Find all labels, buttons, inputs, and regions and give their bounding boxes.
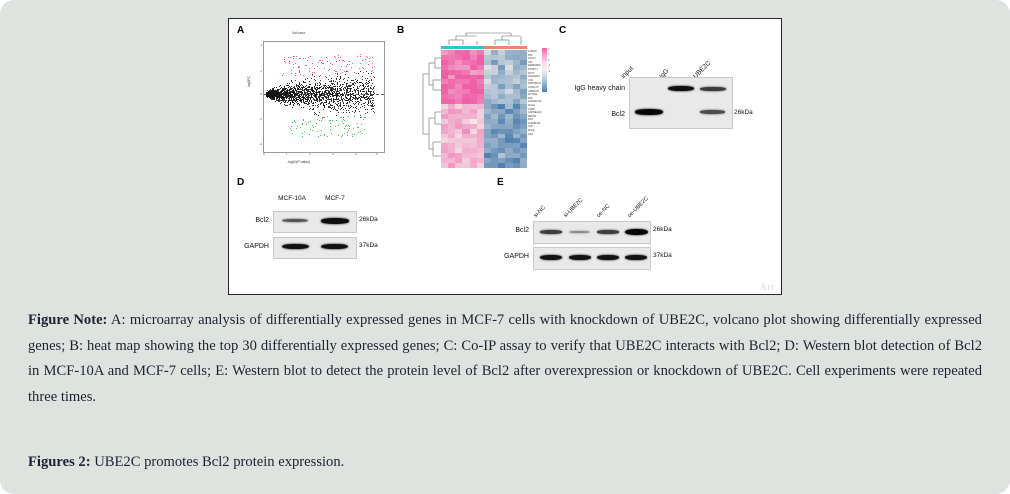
volcano-point: [364, 129, 365, 130]
volcano-point: [338, 99, 339, 100]
volcano-point: [340, 84, 341, 85]
volcano-point: [372, 67, 373, 68]
volcano-point: [274, 93, 275, 94]
volcano-point: [318, 92, 319, 93]
volcano-point: [326, 104, 327, 105]
panel-e-letter: E: [497, 177, 504, 188]
volcano-point: [338, 108, 339, 109]
panel-e-marker-26kda: 26kDa: [653, 226, 672, 233]
volcano-point: [369, 96, 370, 97]
volcano-point: [303, 100, 304, 101]
volcano-point: [321, 130, 322, 131]
volcano-point: [344, 90, 345, 91]
volcano-point: [299, 98, 300, 99]
volcano-point: [371, 85, 372, 86]
volcano-point: [343, 112, 344, 113]
volcano-point: [363, 72, 364, 73]
panel-e-lane-label-oe-nc: oe-NC: [596, 203, 612, 219]
volcano-point: [353, 98, 354, 99]
volcano-point: [352, 136, 353, 137]
volcano-point: [332, 105, 333, 106]
volcano-point: [284, 57, 285, 58]
volcano-point: [374, 77, 375, 78]
volcano-point: [354, 134, 355, 135]
figure-watermark: Art: [760, 282, 775, 292]
volcano-point: [294, 99, 295, 100]
volcano-point: [343, 84, 344, 85]
heatmap-color-legend: [542, 48, 547, 92]
volcano-point: [306, 97, 307, 98]
volcano-point: [312, 109, 313, 110]
heatmap-group-bar-1: [441, 46, 484, 49]
heatmap-cell: [455, 163, 462, 168]
volcano-point: [341, 90, 342, 91]
volcano-point: [365, 102, 366, 103]
panel-e-lane-label-si-ube2c: si-UBE2C: [563, 197, 585, 219]
volcano-ytick: 4: [260, 43, 262, 47]
volcano-point: [330, 96, 331, 97]
volcano-point: [371, 109, 372, 110]
volcano-point: [344, 82, 345, 83]
volcano-point: [323, 97, 324, 98]
figure-note-label: Figure Note:: [28, 312, 107, 328]
volcano-point: [339, 88, 340, 89]
volcano-point: [331, 133, 332, 134]
volcano-point: [280, 88, 281, 89]
volcano-point: [361, 104, 362, 105]
volcano-point: [353, 84, 354, 85]
panel-d-band-gapdh-mcf10a: [282, 244, 309, 249]
volcano-point: [314, 114, 315, 115]
volcano-point: [373, 103, 374, 104]
volcano-point: [279, 86, 280, 87]
volcano-point: [283, 95, 284, 96]
volcano-point: [326, 77, 327, 78]
panel-e-lane-label-oe-ube2c: oe-UBE2C: [627, 196, 650, 219]
volcano-point: [335, 86, 336, 87]
volcano-point: [336, 115, 337, 116]
volcano-point: [285, 96, 286, 97]
volcano-point: [336, 99, 337, 100]
volcano-point: [342, 72, 343, 73]
volcano-point: [303, 82, 304, 83]
volcano-point: [315, 80, 316, 81]
volcano-point: [312, 89, 313, 90]
volcano-point: [366, 56, 367, 57]
volcano-point: [308, 96, 309, 97]
volcano-point: [286, 105, 287, 106]
volcano-point: [357, 123, 358, 124]
volcano-point: [360, 54, 361, 55]
volcano-point: [296, 91, 297, 92]
volcano-point: [287, 83, 288, 84]
heatmap-cell: [498, 163, 505, 168]
volcano-point: [292, 88, 293, 89]
volcano-point: [337, 76, 338, 77]
volcano-point: [326, 104, 327, 105]
volcano-point: [314, 76, 315, 77]
volcano-point: [346, 92, 347, 93]
panel-c-marker-26kda: 26kDa: [734, 109, 753, 116]
volcano-point: [370, 93, 371, 94]
volcano-point: [365, 78, 366, 79]
volcano-point: [296, 102, 297, 103]
volcano-point: [371, 106, 372, 107]
volcano-point: [285, 62, 286, 63]
volcano-point: [345, 74, 346, 75]
volcano-point: [279, 92, 280, 93]
volcano-point: [349, 128, 350, 129]
volcano-point: [351, 106, 352, 107]
volcano-point: [355, 95, 356, 96]
volcano-point: [333, 102, 334, 103]
volcano-point: [284, 91, 285, 92]
volcano-point: [294, 92, 295, 93]
volcano-point: [374, 93, 375, 94]
volcano-point: [346, 100, 347, 101]
volcano-point: [273, 88, 274, 89]
panel-e-row-label-gapdh: GAPDH: [491, 253, 529, 260]
volcano-point: [312, 125, 313, 126]
volcano-point: [304, 90, 305, 91]
volcano-point: [301, 99, 302, 100]
volcano-point: [299, 58, 300, 59]
volcano-point: [269, 95, 270, 96]
volcano-point: [363, 96, 364, 97]
panel-c-blot-membrane: [629, 77, 733, 129]
volcano-point: [374, 66, 375, 67]
volcano-point: [299, 70, 300, 71]
volcano-point: [367, 57, 368, 58]
volcano-point: [316, 87, 317, 88]
panel-c-letter: C: [559, 25, 566, 36]
volcano-point: [329, 87, 330, 88]
volcano-point: [337, 94, 338, 95]
volcano-point: [347, 132, 348, 133]
volcano-point: [293, 58, 294, 59]
volcano-point: [371, 80, 372, 81]
volcano-point: [284, 86, 285, 87]
heatmap-column-dendrogram: [441, 31, 527, 45]
volcano-point: [328, 79, 329, 80]
volcano-xtick: 0: [263, 152, 265, 156]
volcano-point: [313, 95, 314, 96]
volcano-point: [299, 105, 300, 106]
volcano-ytick: -2: [259, 117, 262, 121]
volcano-point: [363, 89, 364, 90]
volcano-point: [319, 60, 320, 61]
volcano-point: [373, 72, 374, 73]
volcano-point: [355, 79, 356, 80]
page-background: A Volcano log2FC 4 2 0 -2 -4 0 1 2 3 4 5…: [0, 0, 1010, 494]
volcano-point: [335, 81, 336, 82]
volcano-point: [343, 103, 344, 104]
volcano-point: [287, 90, 288, 91]
volcano-point: [365, 97, 366, 98]
volcano-point: [312, 72, 313, 73]
volcano-point: [308, 90, 309, 91]
volcano-point: [294, 120, 295, 121]
volcano-point: [319, 112, 320, 113]
volcano-point: [289, 93, 290, 94]
volcano-point: [332, 120, 333, 121]
heatmap-cell: [505, 163, 512, 168]
volcano-point: [367, 99, 368, 100]
volcano-point: [367, 86, 368, 87]
volcano-point: [326, 57, 327, 58]
volcano-point: [292, 82, 293, 83]
volcano-point: [316, 90, 317, 91]
panel-e-marker-37kda: 37kDa: [653, 252, 672, 259]
volcano-point: [371, 71, 372, 72]
volcano-point: [309, 103, 310, 104]
volcano-point: [341, 87, 342, 88]
volcano-point: [349, 108, 350, 109]
volcano-point: [368, 94, 369, 95]
volcano-point: [316, 93, 317, 94]
volcano-point: [360, 71, 361, 72]
volcano-point: [338, 91, 339, 92]
heatmap-grid: [441, 50, 527, 168]
volcano-point: [361, 124, 362, 125]
volcano-point: [358, 94, 359, 95]
volcano-point: [349, 112, 350, 113]
volcano-point: [355, 111, 356, 112]
volcano-point: [328, 99, 329, 100]
volcano-point: [353, 87, 354, 88]
volcano-point: [346, 66, 347, 67]
volcano-point: [300, 88, 301, 89]
volcano-point: [332, 95, 333, 96]
volcano-point: [355, 103, 356, 104]
volcano-point: [319, 87, 320, 88]
heatmap-cell: [477, 163, 484, 168]
volcano-point: [284, 93, 285, 94]
volcano-point: [309, 109, 310, 110]
volcano-point: [337, 101, 338, 102]
volcano-point: [318, 62, 319, 63]
volcano-point: [364, 88, 365, 89]
panel-d-blot-bcl2: [273, 211, 357, 233]
volcano-point: [290, 93, 291, 94]
volcano-point: [350, 89, 351, 90]
volcano-point: [373, 92, 374, 93]
volcano-point: [335, 103, 336, 104]
figure-image: A Volcano log2FC 4 2 0 -2 -4 0 1 2 3 4 5…: [228, 18, 782, 295]
panel-c-band-bcl2-ube2c: [700, 110, 725, 114]
volcano-point: [359, 86, 360, 87]
panel-e-band-gapdh-oe-ube2c: [625, 255, 647, 260]
volcano-point: [275, 101, 276, 102]
volcano-point: [324, 135, 325, 136]
volcano-point: [353, 80, 354, 81]
volcano-point: [360, 115, 361, 116]
volcano-point: [324, 68, 325, 69]
volcano-point: [349, 126, 350, 127]
volcano-point: [331, 80, 332, 81]
volcano-point: [291, 73, 292, 74]
volcano-point: [287, 95, 288, 96]
volcano-point: [361, 93, 362, 94]
volcano-point: [373, 111, 374, 112]
volcano-point: [300, 58, 301, 59]
volcano-point: [368, 73, 369, 74]
volcano-point: [365, 109, 366, 110]
volcano-point: [303, 96, 304, 97]
volcano-point: [372, 102, 373, 103]
volcano-point: [368, 64, 369, 65]
volcano-point: [347, 80, 348, 81]
volcano-point: [299, 84, 300, 85]
volcano-point: [303, 81, 304, 82]
volcano-point: [320, 75, 321, 76]
volcano-point: [368, 102, 369, 103]
volcano-point: [299, 100, 300, 101]
volcano-point: [305, 58, 306, 59]
panel-c-band-igg-heavy-ube2c: [700, 87, 726, 91]
volcano-point: [281, 102, 282, 103]
volcano-title: Volcano: [292, 31, 305, 35]
volcano-point: [330, 126, 331, 127]
panel-e-band-bcl2-oe-nc: [597, 230, 619, 234]
volcano-point: [315, 105, 316, 106]
volcano-point: [298, 67, 299, 68]
volcano-point: [282, 75, 283, 76]
volcano-point: [336, 93, 337, 94]
volcano-point: [310, 98, 311, 99]
volcano-point: [305, 93, 306, 94]
volcano-point: [282, 91, 283, 92]
volcano-point: [279, 95, 280, 96]
volcano-point: [307, 99, 308, 100]
volcano-point: [334, 101, 335, 102]
volcano-point: [295, 90, 296, 91]
volcano-point: [354, 72, 355, 73]
volcano-point: [342, 99, 343, 100]
volcano-point: [314, 68, 315, 69]
volcano-point: [357, 56, 358, 57]
volcano-point: [355, 91, 356, 92]
volcano-point: [362, 67, 363, 68]
volcano-point: [354, 104, 355, 105]
volcano-point: [367, 98, 368, 99]
volcano-point: [338, 95, 339, 96]
volcano-point: [309, 86, 310, 87]
volcano-point: [336, 61, 337, 62]
volcano-point: [318, 136, 319, 137]
volcano-point: [320, 104, 321, 105]
volcano-point: [361, 117, 362, 118]
volcano-point: [352, 63, 353, 64]
volcano-point: [266, 93, 267, 94]
volcano-point: [356, 81, 357, 82]
volcano-point: [317, 119, 318, 120]
volcano-xtick: 5: [376, 152, 378, 156]
volcano-point: [369, 58, 370, 59]
volcano-point: [340, 69, 341, 70]
volcano-point: [329, 92, 330, 93]
volcano-point: [294, 86, 295, 87]
volcano-point: [359, 97, 360, 98]
volcano-point: [340, 109, 341, 110]
volcano-point: [321, 100, 322, 101]
volcano-ytick: 0: [260, 92, 262, 96]
heatmap-cell: [520, 163, 527, 168]
volcano-point: [310, 129, 311, 130]
panel-e-blot-bcl2: [533, 221, 651, 244]
volcano-point: [349, 99, 350, 100]
volcano-point: [307, 60, 308, 61]
volcano-point: [289, 61, 290, 62]
volcano-point: [362, 106, 363, 107]
volcano-xtick: 3: [332, 152, 334, 156]
volcano-point: [333, 109, 334, 110]
volcano-point: [350, 86, 351, 87]
volcano-point: [301, 107, 302, 108]
volcano-point: [313, 109, 314, 110]
volcano-point: [277, 97, 278, 98]
volcano-point: [282, 89, 283, 90]
volcano-point: [300, 89, 301, 90]
heatmap-cell: [441, 163, 448, 168]
volcano-point: [353, 103, 354, 104]
volcano-point: [374, 86, 375, 87]
volcano-point: [297, 85, 298, 86]
volcano-point: [309, 71, 310, 72]
volcano-point: [365, 117, 366, 118]
volcano-point: [365, 113, 366, 114]
volcano-plot-area: [263, 41, 385, 153]
volcano-point: [306, 85, 307, 86]
volcano-point: [327, 97, 328, 98]
volcano-point: [330, 120, 331, 121]
volcano-point: [272, 94, 273, 95]
panel-a-volcano-plot: A Volcano log2FC 4 2 0 -2 -4 0 1 2 3 4 5…: [237, 25, 397, 175]
volcano-point: [349, 61, 350, 62]
volcano-point: [323, 94, 324, 95]
volcano-point: [291, 86, 292, 87]
volcano-point: [372, 97, 373, 98]
volcano-point: [284, 104, 285, 105]
volcano-point: [283, 93, 284, 94]
volcano-point: [327, 61, 328, 62]
volcano-point: [297, 126, 298, 127]
volcano-point: [338, 125, 339, 126]
volcano-point: [341, 66, 342, 67]
volcano-point: [348, 105, 349, 106]
panel-d-lane-label-mcf7: MCF-7: [315, 195, 355, 202]
volcano-point: [337, 91, 338, 92]
volcano-point: [332, 64, 333, 65]
volcano-point: [282, 99, 283, 100]
volcano-point: [341, 108, 342, 109]
volcano-point: [321, 89, 322, 90]
volcano-point: [355, 92, 356, 93]
volcano-point: [312, 87, 313, 88]
volcano-point: [287, 92, 288, 93]
panel-b-heatmap: B: [397, 25, 557, 177]
volcano-point: [322, 98, 323, 99]
volcano-point: [362, 133, 363, 134]
volcano-point: [302, 92, 303, 93]
volcano-point: [302, 136, 303, 137]
volcano-point: [310, 56, 311, 57]
volcano-point: [336, 71, 337, 72]
figure-number-label: Figures 2:: [28, 454, 91, 470]
volcano-point: [285, 94, 286, 95]
volcano-point: [277, 94, 278, 95]
volcano-point: [309, 101, 310, 102]
